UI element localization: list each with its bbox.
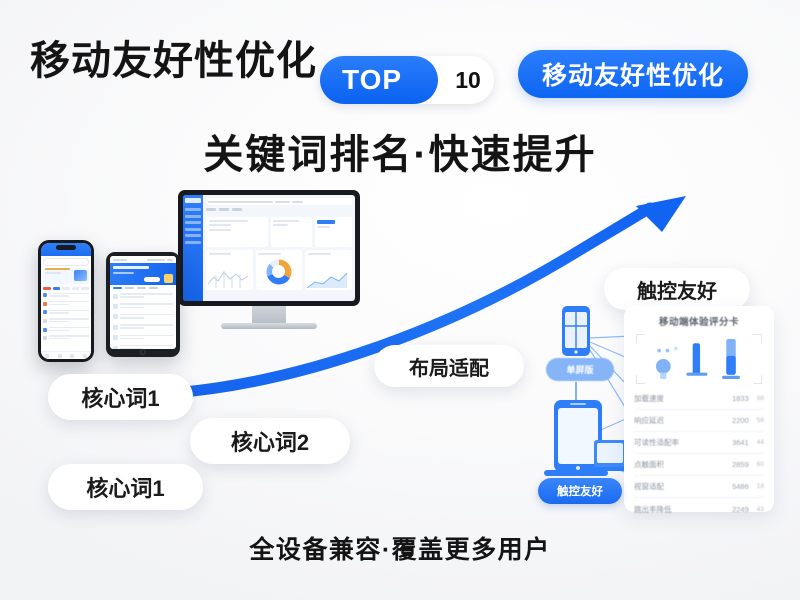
device-mockups	[28, 190, 348, 400]
table-row: 跳出率降低 2249 43	[634, 498, 764, 520]
page-subtitle: 关键词排名·快速提升	[0, 122, 800, 180]
keyword-pill-2: 核心词2	[190, 418, 350, 464]
illustration-pill-single-screen: 单屏版	[546, 358, 614, 381]
top-badge-number: 10	[448, 60, 488, 100]
poster-stage: 移动友好性优化 TOP 10 移动友好性优化 关键词排名·快速提升	[0, 0, 800, 600]
tablet-home-button	[140, 349, 146, 355]
keyword-pill-3: 核心词1	[48, 464, 203, 510]
score-card-rows: 加载速度 1833 98 响应延迟 2200 58 可读性适配率 3641 44…	[634, 388, 764, 520]
header-tag-pill: 移动友好性优化	[518, 50, 748, 98]
mobile-experience-illustration: 移动端体验评分卡 加载速度	[528, 300, 776, 518]
dashboard-sidebar	[183, 195, 203, 301]
page-title: 移动友好性优化	[30, 28, 317, 86]
table-row: 加载速度 1833 98	[634, 388, 764, 410]
score-card-panel: 移动端体验评分卡 加载速度	[624, 306, 774, 512]
table-row: 可读性适配率 3641 44	[634, 432, 764, 454]
top-badge-label: TOP	[320, 56, 438, 104]
tablet-mockup	[106, 252, 180, 357]
donut-chart	[266, 259, 291, 284]
phone-search-bar	[43, 258, 89, 266]
illustration-pill-touch-friendly: 触控友好	[538, 478, 622, 504]
phone-mockup	[38, 240, 94, 362]
desktop-monitor-mockup	[178, 190, 360, 329]
score-card-chart	[636, 334, 762, 384]
table-row: 点触面积 2859 60	[634, 454, 764, 476]
table-row: 视窗适配 5486 18	[634, 476, 764, 498]
table-row: 响应延迟 2200 58	[634, 410, 764, 432]
top-rank-badge: TOP 10	[320, 56, 494, 104]
keyword-pill-1: 核心词1	[48, 374, 193, 420]
footer-text: 全设备兼容·覆盖更多用户	[0, 530, 800, 566]
callout-layout-adaptation: 布局适配	[374, 345, 524, 387]
score-card-title: 移动端体验评分卡	[634, 314, 764, 328]
phone-notch	[56, 245, 76, 250]
